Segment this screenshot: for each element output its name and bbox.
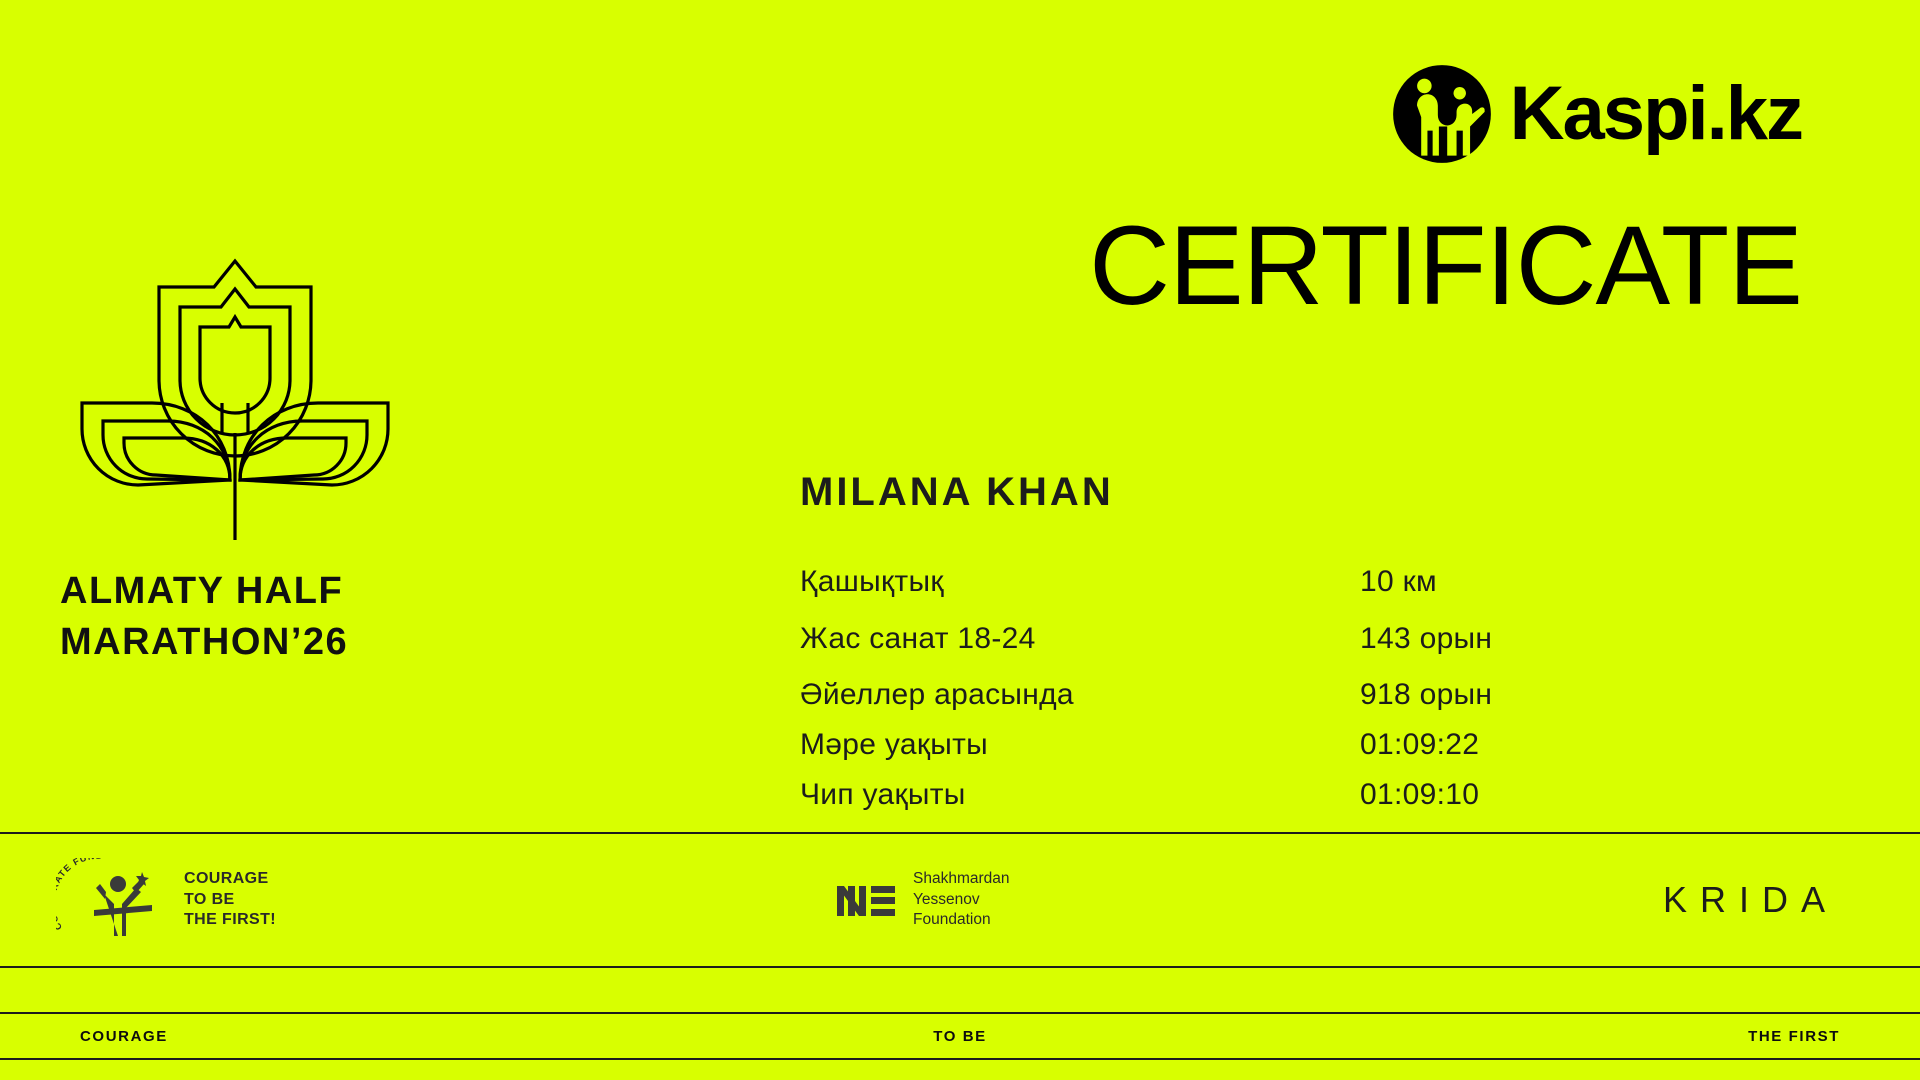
event-name: ALMATY HALF MARATHON’26 <box>60 566 480 667</box>
kaspi-circle-people-icon <box>1390 62 1494 166</box>
result-label: Жас санат 18-24 <box>800 622 1360 656</box>
results-list: Қашықтық 10 км Жас санат 18-24 143 орын … <box>800 565 1640 825</box>
result-row: Жас санат 18-24 143 орын <box>800 622 1640 668</box>
result-row: Мәре уақыты 01:09:22 <box>800 728 1640 774</box>
svg-text:CORPORATE FUND: CORPORATE FUND <box>56 858 103 932</box>
tagline-center: TO BE <box>933 1028 987 1045</box>
divider-bottom <box>0 1058 1920 1060</box>
athlete-name: MILANA KHAN <box>800 470 1114 515</box>
partner-krida: KRIDA <box>1663 879 1838 921</box>
page-title: CERTIFICATE <box>1089 210 1802 322</box>
result-row: Әйеллер арасында 918 орын <box>800 678 1640 724</box>
result-label: Мәре уақыты <box>800 728 1360 762</box>
partner-yessenov-foundation: Shakhmardan Yessenov Foundation <box>835 869 1010 931</box>
corporate-fund-figure-icon: CORPORATE FUND <box>56 858 174 942</box>
tagline-left: COURAGE <box>80 1028 168 1045</box>
almaty-tulip-emblem-icon <box>70 195 400 540</box>
partner-corporate-fund: CORPORATE FUND COURAGE TO BE THE FIRST! <box>56 858 276 942</box>
kaspi-logo: Kaspi.kz <box>1390 62 1802 166</box>
event-emblem-block: ALMATY HALF MARATHON’26 <box>60 195 480 667</box>
result-label: Чип уақыты <box>800 778 1360 812</box>
kaspi-wordmark: Kaspi.kz <box>1510 76 1802 152</box>
result-value: 01:09:22 <box>1360 728 1479 762</box>
yessenov-foundation-name: Shakhmardan Yessenov Foundation <box>913 869 1010 931</box>
result-value: 143 орын <box>1360 622 1492 656</box>
corporate-fund-tagline: COURAGE TO BE THE FIRST! <box>184 869 276 930</box>
tagline-right: THE FIRST <box>1748 1028 1840 1045</box>
result-value: 01:09:10 <box>1360 778 1479 812</box>
tagline-bar: COURAGE TO BE THE FIRST <box>0 1014 1920 1058</box>
result-value: 918 орын <box>1360 678 1492 712</box>
result-value: 10 км <box>1360 565 1437 599</box>
result-label: Әйеллер арасында <box>800 678 1360 712</box>
yessenov-monogram-icon <box>835 878 901 922</box>
divider-middle <box>0 966 1920 968</box>
result-row: Чип уақыты 01:09:10 <box>800 778 1640 824</box>
result-label: Қашықтық <box>800 565 1360 599</box>
result-row: Қашықтық 10 км <box>800 565 1640 611</box>
certificate-page: Kaspi.kz <box>0 0 1920 1080</box>
partner-logos: CORPORATE FUND COURAGE TO BE THE FIRST! <box>0 834 1920 966</box>
